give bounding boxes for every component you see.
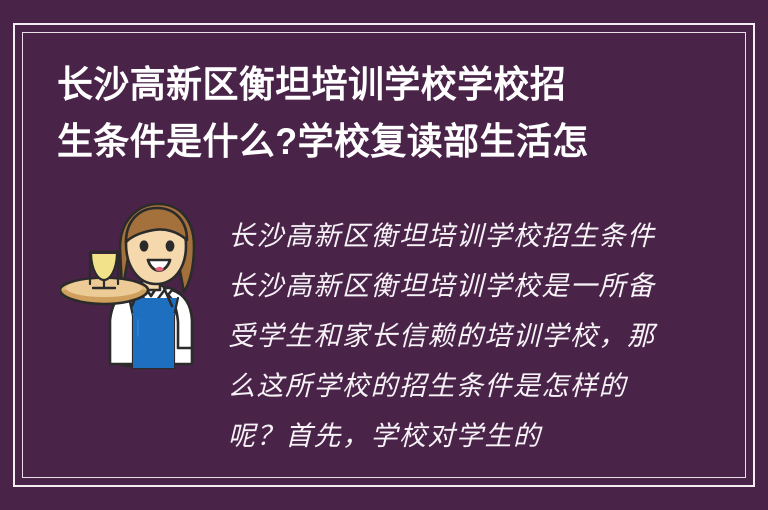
poster-canvas: 长沙高新区衡坦培训学校学校招 生条件是什么?学校复读部生活怎 (0, 0, 768, 510)
waitress-illustration (60, 196, 235, 388)
page-title: 长沙高新区衡坦培训学校学校招 生条件是什么?学校复读部生活怎 (57, 56, 678, 170)
body-paragraph: 长沙高新区衡坦培训学校招生条件长沙高新区衡坦培训学校是一所备受学生和家长信赖的培… (228, 212, 660, 462)
